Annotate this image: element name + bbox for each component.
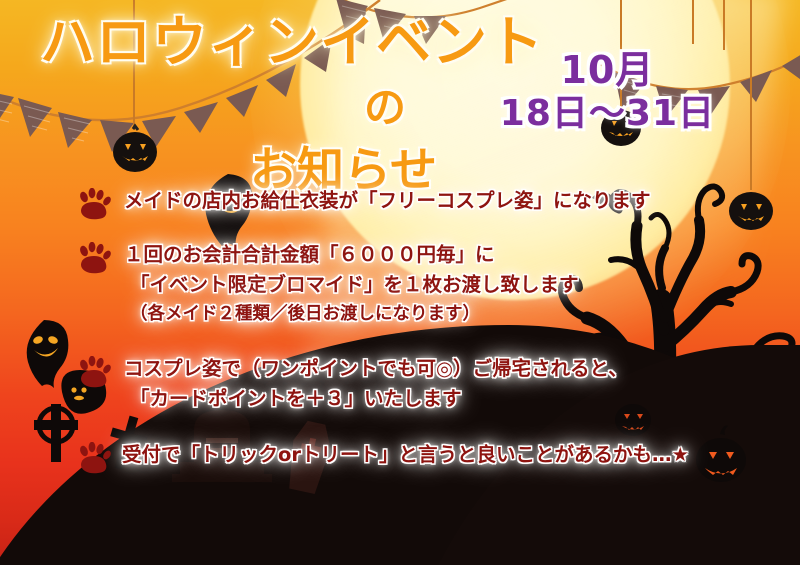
bullet-text: １回のお会計合計金額「６０００円毎」に — [76, 240, 776, 270]
paw-print-icon — [76, 242, 112, 274]
bullet-text: （各メイド２種類／後日お渡しになります） — [76, 301, 776, 328]
bullet-text: コスプレ姿で（ワンポイントでも可◎）ご帰宅されると、 — [76, 354, 776, 384]
bullet-item: 受付で「トリックorトリート」と言うと良いことがあるかも…★ — [76, 440, 776, 470]
hanging-string — [692, 0, 694, 44]
halloween-poster: ハロウィンイベント の お知らせ 10月 18日～31日 メイドの店内お給仕衣装… — [0, 0, 800, 565]
event-date-block: 10月 18日～31日 — [500, 48, 715, 135]
title-block: ハロウィンイベント の お知らせ — [40, 14, 560, 200]
paw-print-icon — [76, 356, 112, 388]
bullet-item: メイドの店内お給仕衣装が「フリーコスプレ姿」になります — [76, 186, 776, 216]
bullet-list: メイドの店内お給仕衣装が「フリーコスプレ姿」になります １回のお会計合計金額「６… — [76, 186, 776, 474]
title-line-1: ハロウィンイベント — [40, 14, 560, 72]
bullet-item: １回のお会計合計金額「６０００円毎」に 「イベント限定ブロマイド」を１枚お渡し致… — [76, 240, 776, 328]
bullet-text: 受付で「トリックorトリート」と言うと良いことがあるかも…★ — [76, 440, 776, 470]
bullet-item: コスプレ姿で（ワンポイントでも可◎）ご帰宅されると、 「カードポイントを＋３」い… — [76, 354, 776, 414]
bullet-text: 「カードポイントを＋３」いたします — [76, 384, 776, 414]
bullet-text: 「イベント限定ブロマイド」を１枚お渡し致します — [76, 270, 776, 300]
bullet-text: メイドの店内お給仕衣装が「フリーコスプレ姿」になります — [76, 186, 776, 216]
paw-print-icon — [76, 188, 112, 220]
event-day-range: 18日～31日 — [500, 93, 715, 135]
paw-print-icon — [76, 442, 112, 474]
event-month: 10月 — [500, 48, 715, 93]
hanging-string — [723, 0, 725, 50]
